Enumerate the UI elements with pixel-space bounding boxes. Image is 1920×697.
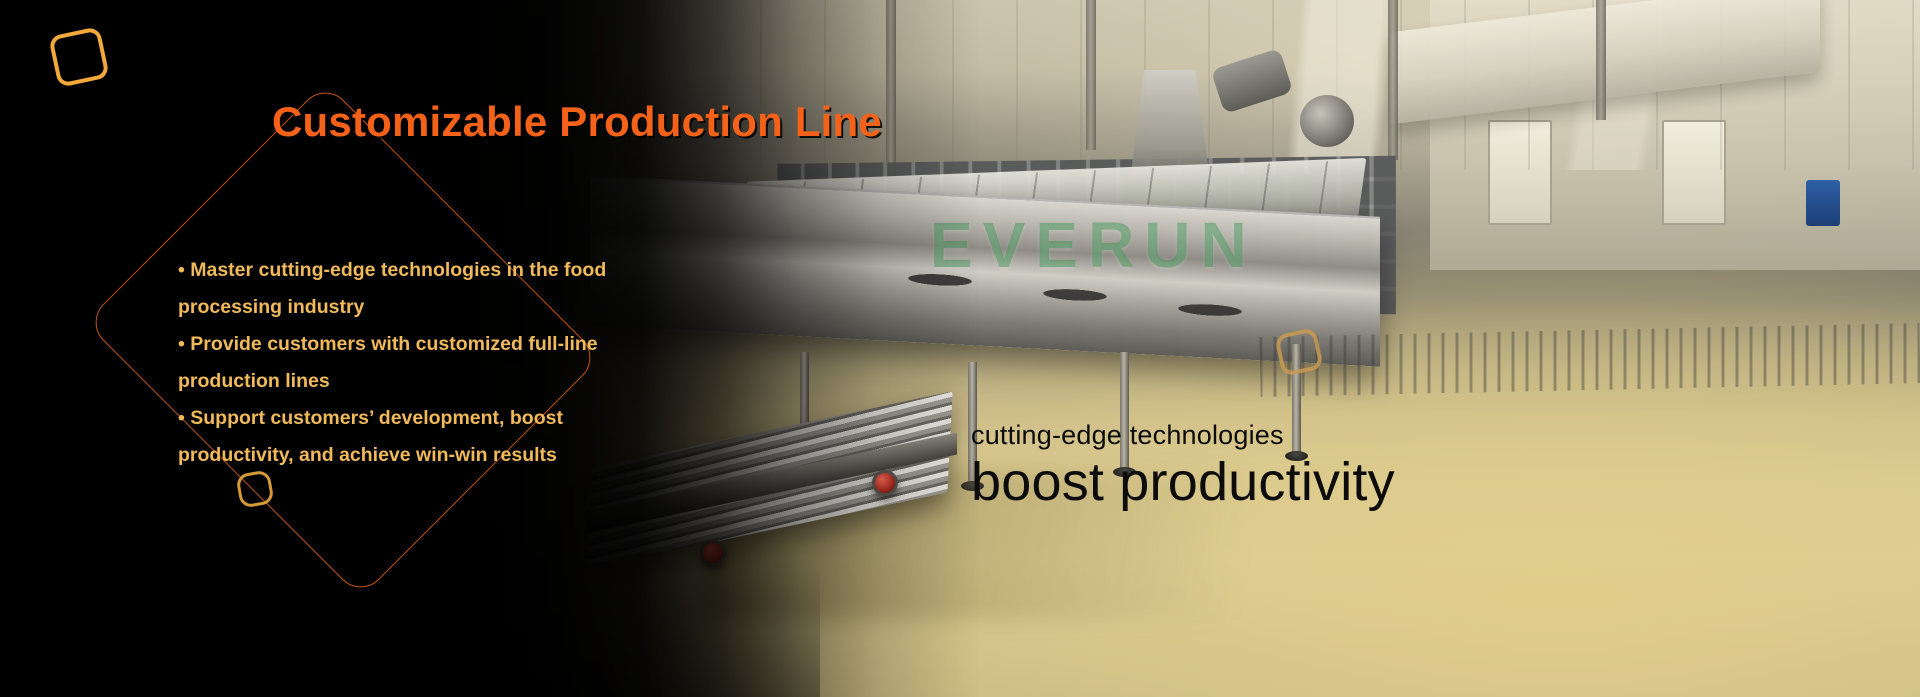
tagline-line-2: boost productivity xyxy=(971,452,1395,512)
bullet-item-1: • Master cutting-edge technologies in th… xyxy=(178,252,623,326)
page-title: Customizable Production Line xyxy=(272,98,882,146)
bullet-item-3: • Support customers’ development, boost … xyxy=(178,400,623,474)
tagline-block: cutting-edge technologies boost producti… xyxy=(971,418,1395,512)
feature-bullet-list: • Master cutting-edge technologies in th… xyxy=(178,252,623,474)
hero-banner: EVERUN Customizable Production Line • Ma… xyxy=(0,0,1920,697)
bullet-item-2: • Provide customers with customized full… xyxy=(178,326,623,400)
tagline-line-1: cutting-edge technologies xyxy=(971,418,1395,452)
rounded-square-decor-top-left xyxy=(48,26,110,88)
